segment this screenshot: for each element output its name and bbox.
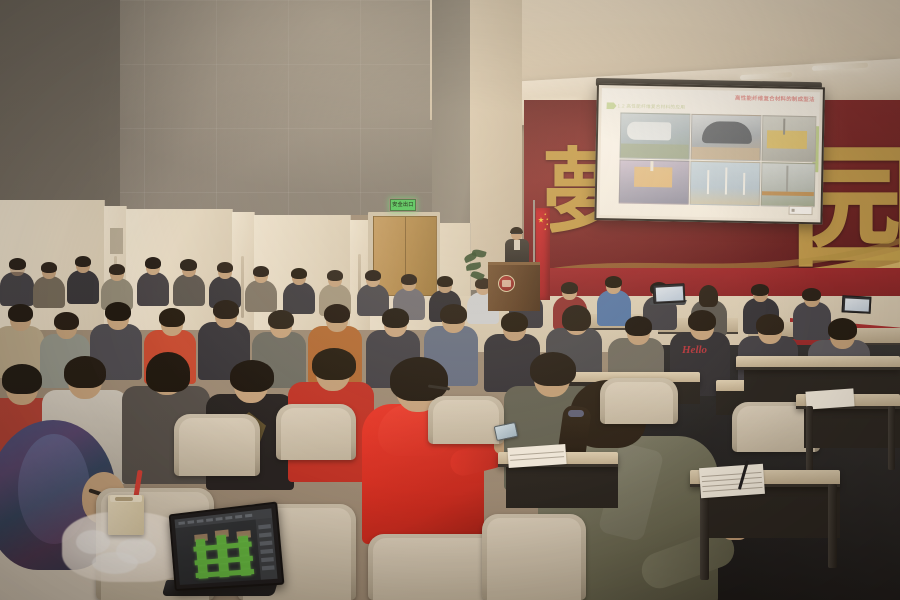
upper-wall-shadow	[0, 0, 120, 230]
auditorium-chair[interactable]	[600, 378, 678, 424]
potted-plant	[462, 250, 488, 294]
desk-leg	[888, 406, 895, 470]
exit-sign: 安全出口	[389, 198, 417, 212]
desk-modesty-panel	[506, 464, 618, 508]
handout-paper	[699, 464, 765, 498]
auditorium-chair[interactable]	[428, 396, 504, 444]
cad-laptop-foreground[interactable]	[168, 508, 278, 598]
auditorium-chair[interactable]	[482, 514, 586, 600]
desk-leg	[806, 406, 813, 476]
ceiling-light-strip	[740, 72, 792, 80]
exit-sign-label: 安全出口	[390, 199, 416, 211]
desk-mid-right	[736, 356, 900, 370]
desk-modesty-panel	[804, 406, 900, 448]
jacket-text: Hello	[682, 344, 707, 356]
speaker-presenter	[505, 228, 529, 264]
auditorium-chair[interactable]	[276, 404, 356, 460]
auditorium-chair[interactable]	[174, 414, 260, 476]
university-crest-icon	[498, 275, 515, 292]
desk-leg	[828, 484, 837, 568]
presentation-slide: 1.2 高性能纤维复合材料的应用 高性能纤维复合材料的制成型法	[599, 88, 819, 219]
laptop-rear-left[interactable]	[653, 284, 687, 306]
laptop-rear-right[interactable]	[842, 296, 872, 316]
hair-tie	[568, 410, 584, 417]
wall-panel-plate	[110, 228, 123, 254]
lecture-hall-photo: 安全出口 夢 园 1.2 高性能纤维复合材料的应用 高性能纤维复合材料的制成型法	[0, 0, 900, 600]
projection-screen: 1.2 高性能纤维复合材料的应用 高性能纤维复合材料的制成型法	[594, 83, 825, 224]
ceiling-light-strip	[812, 63, 868, 71]
app-side-panel[interactable]	[256, 518, 278, 580]
lectern-podium	[488, 262, 540, 311]
laptop-lid	[169, 501, 285, 591]
handout-paper	[507, 444, 566, 468]
desk-leg	[700, 484, 709, 580]
paper-cup	[108, 495, 144, 535]
laptop-screen[interactable]	[175, 508, 278, 585]
